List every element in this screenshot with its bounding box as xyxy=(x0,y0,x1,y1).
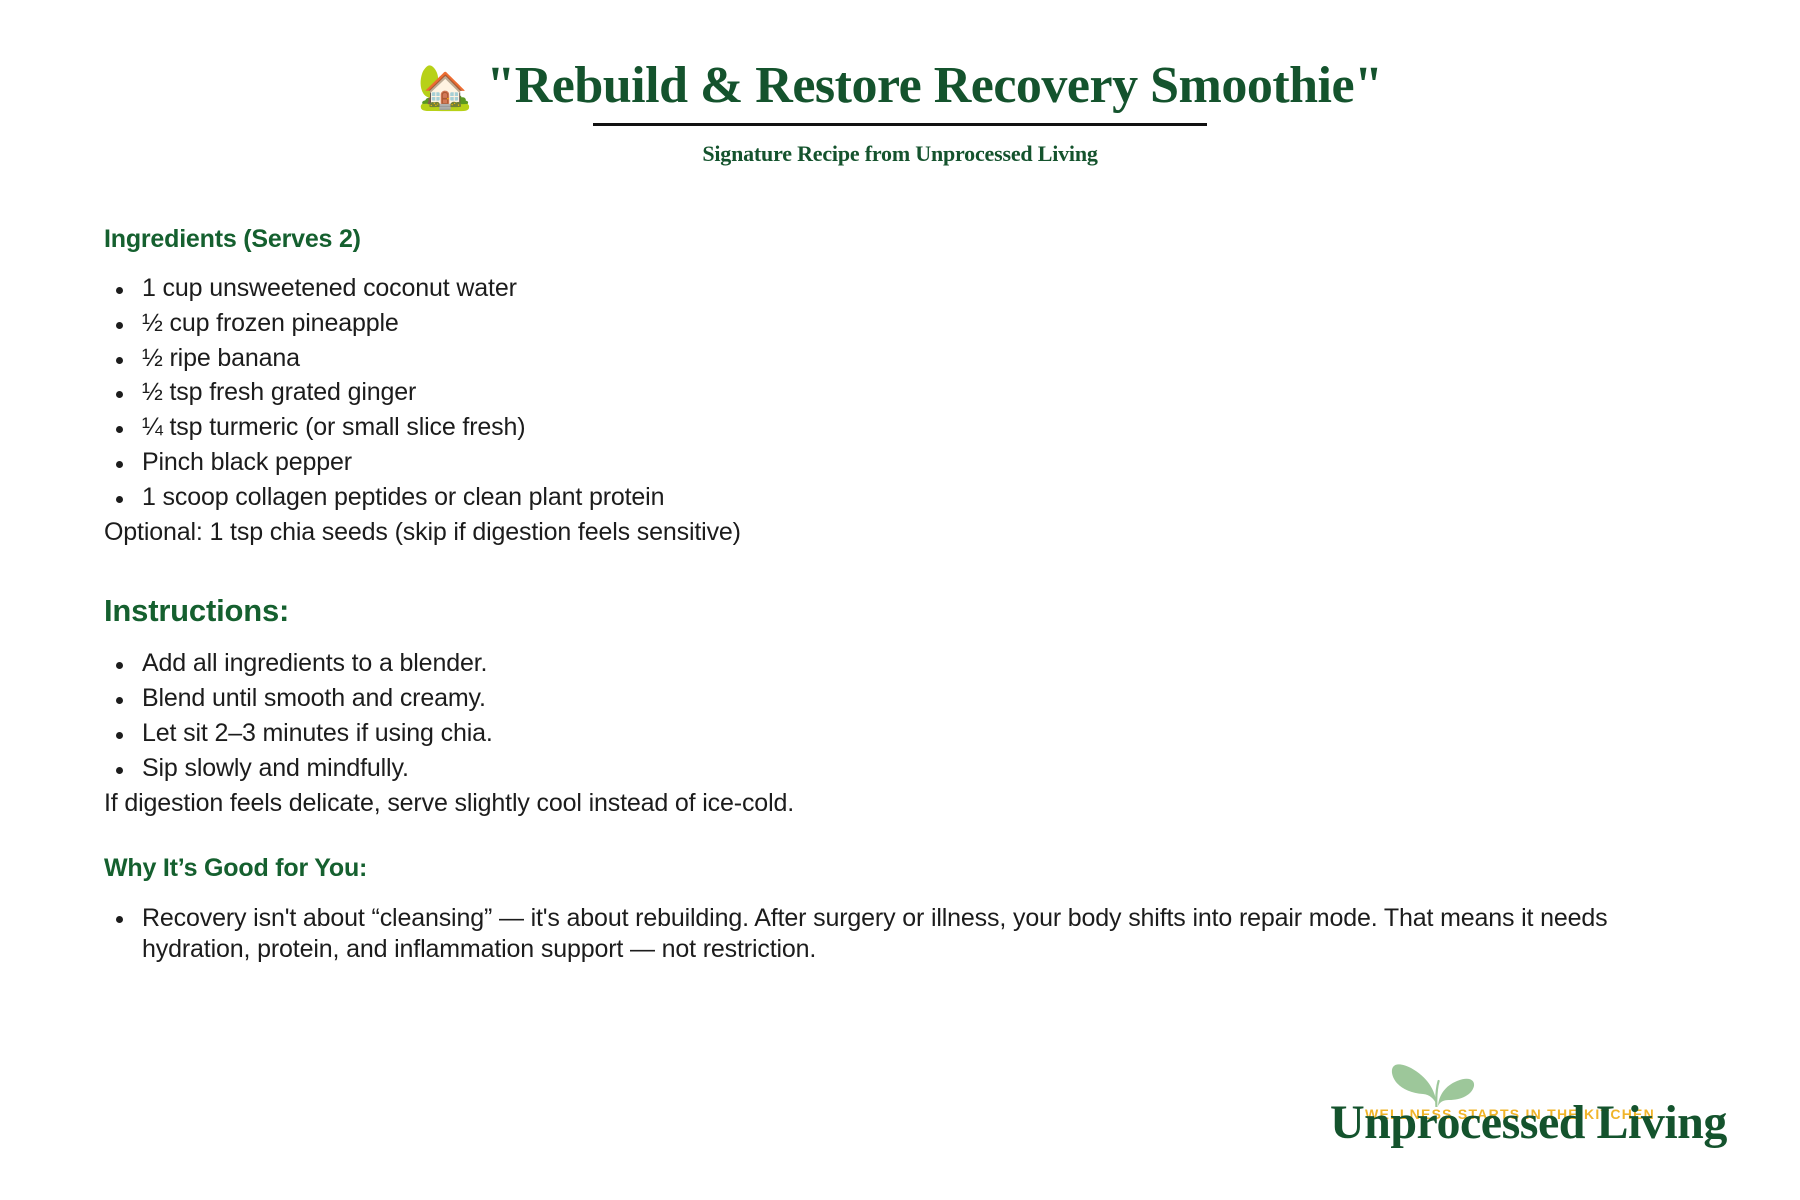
list-item: Sip slowly and mindfully. xyxy=(104,754,1696,784)
section-spacer xyxy=(104,547,1696,593)
list-item: Blend until smooth and creamy. xyxy=(104,684,1696,714)
list-item: 1 cup unsweetened coconut water xyxy=(104,274,1696,304)
leaf-sprout-icon xyxy=(1389,1055,1485,1107)
recipe-page: 🏡 "Rebuild & Restore Recovery Smoothie" … xyxy=(0,0,1800,1200)
list-item: Add all ingredients to a blender. xyxy=(104,649,1696,679)
list-item: Recovery isn't about “cleansing” — it's … xyxy=(104,903,1696,964)
ingredients-section: Ingredients (Serves 2) 1 cup unsweetened… xyxy=(104,225,1696,547)
page-title: "Rebuild & Restore Recovery Smoothie" xyxy=(486,58,1382,114)
list-item: Let sit 2–3 minutes if using chia. xyxy=(104,719,1696,749)
instructions-heading: Instructions: xyxy=(104,593,1696,629)
ingredients-note: Optional: 1 tsp chia seeds (skip if dige… xyxy=(104,517,1696,547)
document-subtitle: Signature Recipe from Unprocessed Living xyxy=(0,141,1800,167)
list-item: ½ ripe banana xyxy=(104,344,1696,374)
list-item: Pinch black pepper xyxy=(104,448,1696,478)
why-heading: Why It’s Good for You: xyxy=(104,854,1696,883)
why-section: Why It’s Good for You: Recovery isn't ab… xyxy=(104,854,1696,964)
house-with-garden-icon: 🏡 xyxy=(418,66,473,110)
list-item: ¼ tsp turmeric (or small slice fresh) xyxy=(104,413,1696,443)
document-body: Ingredients (Serves 2) 1 cup unsweetened… xyxy=(0,225,1800,964)
brand-name: Unprocessed Living xyxy=(1330,1099,1690,1148)
brand-logo: Unprocessed Living WELLNESS STARTS IN TH… xyxy=(1330,1099,1690,1122)
list-item: ½ tsp fresh grated ginger xyxy=(104,378,1696,408)
ingredients-list: 1 cup unsweetened coconut water ½ cup fr… xyxy=(104,274,1696,512)
why-list: Recovery isn't about “cleansing” — it's … xyxy=(104,903,1696,964)
title-divider xyxy=(593,123,1207,126)
ingredients-heading: Ingredients (Serves 2) xyxy=(104,225,1696,254)
instructions-section: Instructions: Add all ingredients to a b… xyxy=(104,593,1696,818)
instructions-list: Add all ingredients to a blender. Blend … xyxy=(104,649,1696,783)
title-row: 🏡 "Rebuild & Restore Recovery Smoothie" xyxy=(0,58,1800,114)
section-spacer xyxy=(104,818,1696,854)
instructions-note: If digestion feels delicate, serve sligh… xyxy=(104,788,1696,818)
document-header: 🏡 "Rebuild & Restore Recovery Smoothie" … xyxy=(0,0,1800,167)
list-item: 1 scoop collagen peptides or clean plant… xyxy=(104,483,1696,513)
list-item: ½ cup frozen pineapple xyxy=(104,309,1696,339)
